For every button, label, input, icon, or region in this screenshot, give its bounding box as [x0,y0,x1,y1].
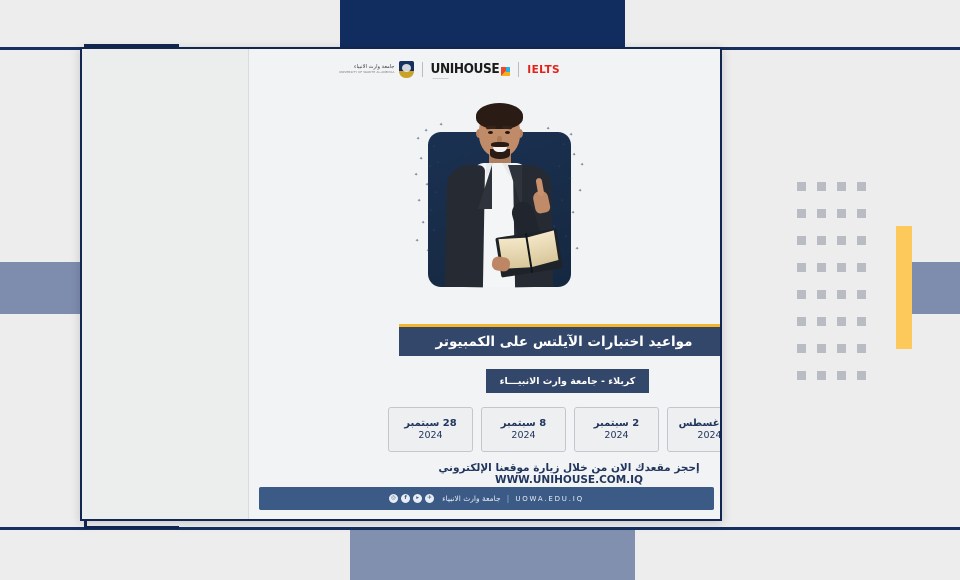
deco-dot [817,344,826,353]
logo-divider-1 [422,62,423,77]
deco-dot [857,290,866,299]
footer-separator: | [507,494,510,503]
portrait-figure [422,105,577,287]
logo-divider-2 [518,62,519,77]
deco-dot [837,236,846,245]
footer-url[interactable]: UOWA.EDU.IQ [515,495,584,503]
deco-dot [817,317,826,326]
deco-dot [837,371,846,380]
sparkle-icon: ✦ [580,163,584,168]
exam-date-day: 28 سبتمبر [404,418,456,429]
exam-date-box[interactable]: 2 سبتمبر2024 [574,407,659,452]
university-logo: جامعة وارث الانبياء UNIVERSITY OF WARITH… [339,61,414,78]
social-icon-list: ◎f▸✈ [389,494,434,503]
deco-dot [797,236,806,245]
deco-dot [857,344,866,353]
sparkle-icon: ✦ [414,173,418,178]
cta-line: إحجز مقعدك الان من خلال زيارة موقعنا الإ… [389,462,720,486]
deco-dot [797,209,806,218]
deco-dot [857,371,866,380]
deco-dot [797,263,806,272]
ielts-label: IELTS [527,64,560,76]
instagram-icon[interactable]: ◎ [389,494,398,503]
exam-date-year: 2024 [418,430,442,441]
poster-title-band: مواعيد اختبارات الآيلتس على الكمبيوتر [399,324,720,356]
deco-dot [837,182,846,191]
unihouse-tagline: ـــــــــــــــــــــ [433,77,449,80]
poster-subtitle-band: كربلاء - جامعة وارث الانبيـــاء [486,369,649,393]
exam-date-list: 28 سبتمبر20248 سبتمبر20242 سبتمبر202424 … [380,407,720,452]
deco-bottom-slate-block [350,530,635,580]
exam-date-day: 8 سبتمبر [501,418,546,429]
exam-date-box[interactable]: 28 سبتمبر2024 [388,407,473,452]
deco-dot [817,290,826,299]
flyer-content-panel: جامعة وارث الانبياء UNIVERSITY OF WARITH… [249,49,720,519]
deco-dot [797,317,806,326]
poster-mockup-canvas: جامعة وارث الانبياء UNIVERSITY OF WARITH… [0,0,960,580]
deco-dot [817,263,826,272]
deco-dot [837,290,846,299]
exam-date-box[interactable]: 24 أغسطس2024 [667,407,720,452]
sparkle-icon: ✦ [417,199,421,204]
deco-dot [857,182,866,191]
figure-eye-right [505,131,510,134]
deco-dot-grid [797,182,877,398]
exam-date-day: 24 أغسطس [679,418,720,429]
deco-dot [857,317,866,326]
hero-portrait: ✦✦✦✦✦✦✦✦✦✦✦✦✦✦✦✦✦✦✦✦✦✦✦✦✦✦✦✦✦✦ [422,105,577,287]
deco-slate-bar-right [912,262,960,314]
exam-date-year: 2024 [511,430,535,441]
unihouse-wordmark: UNIHOUSE [431,63,500,77]
deco-dot [817,236,826,245]
deco-dot [837,344,846,353]
university-logo-english-name: UNIVERSITY OF WARITH AL-ANBIYAA [339,71,395,74]
flyer-footer-bar: ◎f▸✈ جامعة وارث الانبياء | UOWA.EDU.IQ [259,487,714,510]
twitter-icon[interactable]: ✈ [425,494,434,503]
deco-yellow-bar-right [896,226,912,349]
deco-dot [797,182,806,191]
deco-dot [817,371,826,380]
deco-dot [857,236,866,245]
figure-eye-left [488,131,493,134]
sparkle-icon: ✦ [415,239,419,244]
figure-moustache [491,142,509,147]
exam-date-box[interactable]: 8 سبتمبر2024 [481,407,566,452]
deco-dot [797,344,806,353]
deco-dot [817,182,826,191]
deco-dot [837,263,846,272]
facebook-icon[interactable]: f [401,494,410,503]
cta-url[interactable]: WWW.UNIHOUSE.COM.IQ [495,474,643,486]
deco-dot [797,371,806,380]
poster-title: مواعيد اختبارات الآيلتس على الكمبيوتر [436,334,693,350]
deco-top-navy-block [340,0,625,48]
deco-dot [797,290,806,299]
exam-date-year: 2024 [604,430,628,441]
flyer-left-panel [82,49,248,519]
figure-mouth [493,147,507,152]
figure-lapel-left [478,165,492,209]
exam-date-day: 2 سبتمبر [594,418,639,429]
figure-hair [476,103,523,129]
exam-date-year: 2024 [697,430,720,441]
deco-dot [857,209,866,218]
deco-dot [837,209,846,218]
deco-dot [837,317,846,326]
figure-hand-holding-book [491,256,511,272]
unihouse-square-mark-icon [501,67,510,76]
sparkle-icon: ✦ [578,189,582,194]
deco-dot [817,209,826,218]
logo-row: جامعة وارث الانبياء UNIVERSITY OF WARITH… [339,61,560,78]
sparkle-icon: ✦ [416,137,420,142]
youtube-icon[interactable]: ▸ [413,494,422,503]
unihouse-logo: UNIHOUSE ـــــــــــــــــــــ [431,63,511,77]
footer-arabic-name: جامعة وارث الانبياء [442,494,501,503]
deco-dot [857,263,866,272]
poster-subtitle: كربلاء - جامعة وارث الانبيـــاء [500,376,636,387]
university-crest-icon [399,61,414,78]
cta-text: إحجز مقعدك الان من خلال زيارة موقعنا الإ… [438,462,699,474]
flyer-card: جامعة وارث الانبياء UNIVERSITY OF WARITH… [80,47,722,521]
